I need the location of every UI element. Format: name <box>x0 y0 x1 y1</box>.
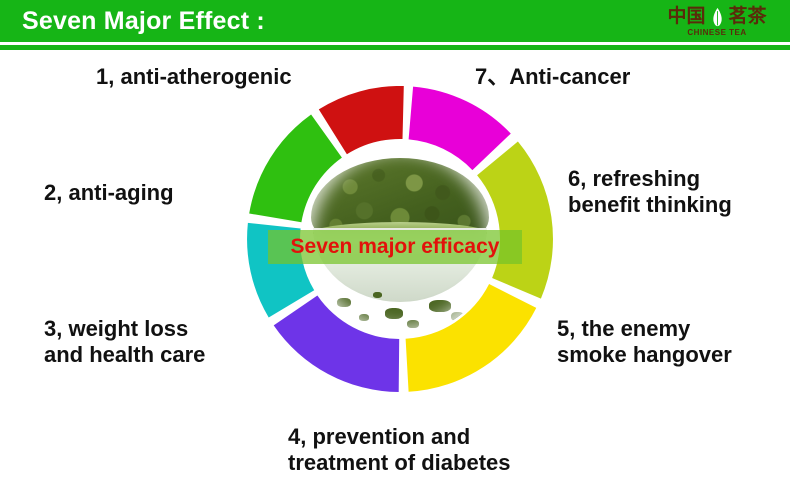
brand-logo: 中国 茗茶 CHINESE TEA <box>652 2 782 40</box>
tea-crumb <box>451 312 464 321</box>
brand-chinese-right: 茗茶 <box>729 7 767 26</box>
tea-crumb <box>359 314 369 321</box>
effect-label-6: 6, refreshing benefit thinking <box>568 166 732 217</box>
tea-crumb <box>429 300 451 312</box>
brand-chinese-left: 中国 <box>667 7 705 26</box>
tea-crumb <box>373 292 382 298</box>
effect-label-4: 4, prevention and treatment of diabetes <box>288 424 511 475</box>
effect-label-7: 7、Anti-cancer <box>475 64 630 90</box>
tea-crumb <box>337 298 351 307</box>
header-divider <box>0 45 790 50</box>
tea-leaf-icon <box>709 7 726 27</box>
brand-logo-row: 中国 茗茶 <box>667 6 766 28</box>
effect-label-3: 3, weight loss and health care <box>44 316 205 367</box>
tea-crumb <box>407 320 419 328</box>
page-title: Seven Major Effect : <box>22 7 265 36</box>
effect-label-5: 5, the enemy smoke hangover <box>557 316 732 367</box>
brand-english-text: CHINESE TEA <box>687 29 746 37</box>
tea-crumb <box>385 308 403 319</box>
effect-label-1: 1, anti-atherogenic <box>96 64 292 90</box>
center-caption-highlight: Seven major efficacy <box>268 230 522 264</box>
effect-label-2: 2, anti-aging <box>44 180 174 206</box>
center-caption-text: Seven major efficacy <box>291 235 500 259</box>
